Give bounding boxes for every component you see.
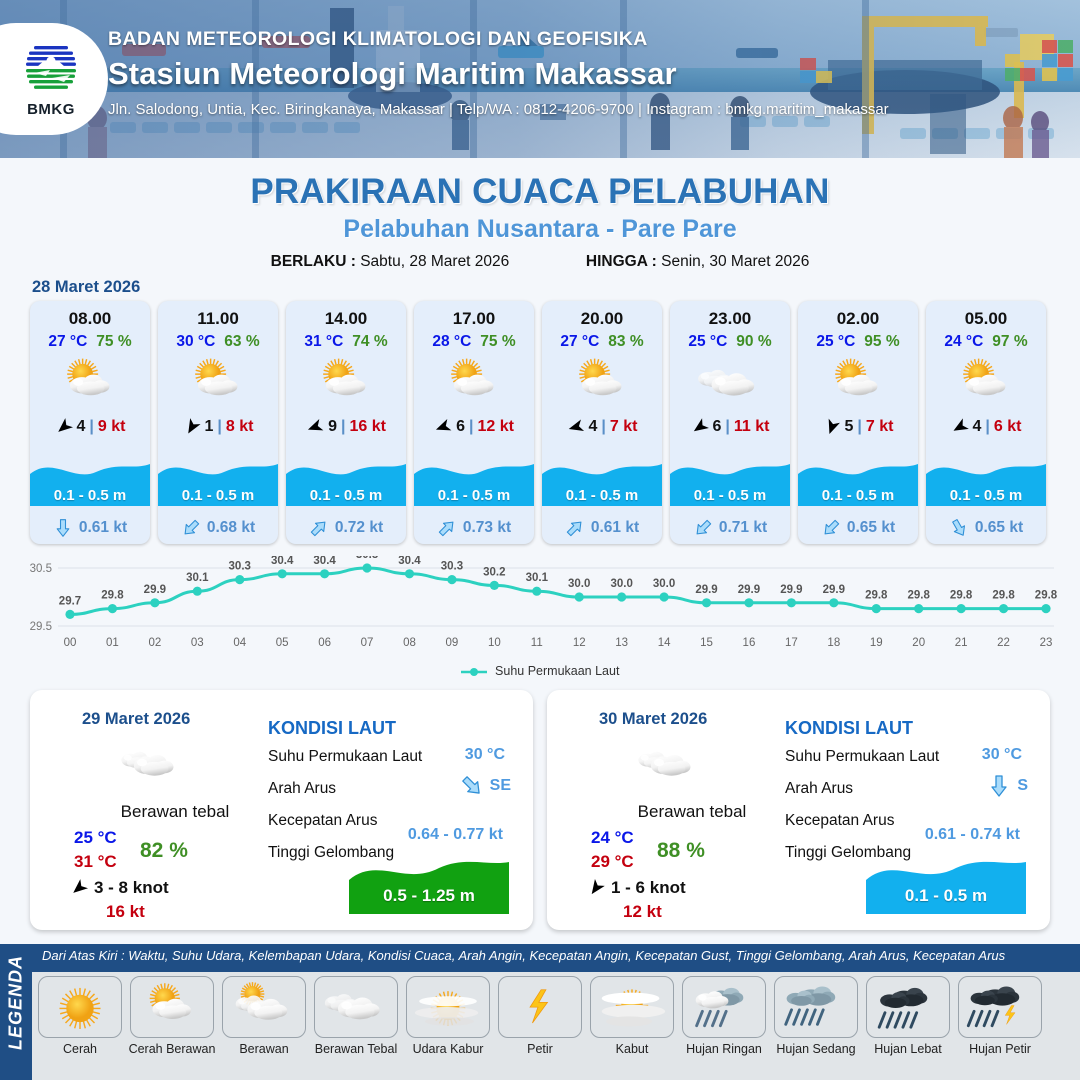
card-temperature: 27 °C xyxy=(48,333,87,351)
card-wave-height: 0.1 - 0.5 m xyxy=(926,487,1046,504)
station-contact: Jln. Salodong, Untia, Kec. Biringkanaya,… xyxy=(108,101,889,118)
card-divider: | xyxy=(857,418,861,436)
legend-strip: LEGENDA Dari Atas Kiri : Waktu, Suhu Uda… xyxy=(0,944,1080,1080)
current-direction-arrow-icon xyxy=(987,774,1011,798)
current-direction-arrow-icon xyxy=(561,514,589,542)
svg-text:29.9: 29.9 xyxy=(144,584,166,596)
card-weather-icon xyxy=(926,355,1046,411)
svg-text:30.0: 30.0 xyxy=(610,578,632,590)
card-temp-hum: 31 °C 74 % xyxy=(286,333,406,351)
card-gust: 8 kt xyxy=(226,418,254,436)
sea-conditions-title: KONDISI LAUT xyxy=(785,718,913,739)
card-current-speed: 0.65 kt xyxy=(975,519,1023,537)
legend-item-icon xyxy=(866,976,950,1038)
card-humidity: 75 % xyxy=(96,333,131,351)
hourly-card: 23.00 25 °C 90 % 6 | 11 kt xyxy=(670,301,790,544)
current-direction-arrow-icon xyxy=(305,514,333,542)
daily-temp-min: 24 °C xyxy=(591,828,634,848)
current-direction-arrow-icon xyxy=(945,514,972,541)
card-divider: | xyxy=(341,418,345,436)
svg-text:30.4: 30.4 xyxy=(398,556,421,567)
svg-text:08: 08 xyxy=(403,637,416,649)
weather-icon-cerah xyxy=(44,978,116,1036)
card-wave-height: 0.1 - 0.5 m xyxy=(158,487,278,504)
legend-icon-list: Cerah Cerah Berawan xyxy=(36,976,1080,1056)
daily-panel: 30 Maret 2026 Berawan tebal 24 °C 29 °C … xyxy=(547,690,1050,930)
svg-text:30.2: 30.2 xyxy=(483,566,505,578)
svg-text:06: 06 xyxy=(318,637,331,649)
card-weather-icon xyxy=(158,355,278,411)
card-wave-height: 0.1 - 0.5 m xyxy=(414,487,534,504)
page-title: PRAKIRAAN CUACA PELABUHAN xyxy=(0,172,1080,212)
chart-legend-label: Suhu Permukaan Laut xyxy=(495,664,619,678)
svg-text:30.0: 30.0 xyxy=(568,578,590,590)
svg-text:18: 18 xyxy=(827,637,840,649)
svg-text:14: 14 xyxy=(658,637,671,649)
svg-text:29.9: 29.9 xyxy=(695,584,717,596)
svg-text:20: 20 xyxy=(912,637,925,649)
svg-text:30.4: 30.4 xyxy=(271,556,294,567)
card-wave-height: 0.1 - 0.5 m xyxy=(798,487,918,504)
svg-text:13: 13 xyxy=(615,637,628,649)
svg-text:29.7: 29.7 xyxy=(59,595,81,607)
current-direction-arrow-icon xyxy=(53,518,73,538)
wind-direction-arrow-icon xyxy=(564,416,586,438)
legend-item-icon xyxy=(406,976,490,1038)
hourly-card: 05.00 24 °C 97 % 4 | 6 kt 0.1 xyxy=(926,301,1046,544)
agency-name: BADAN METEOROLOGI KLIMATOLOGI DAN GEOFIS… xyxy=(108,28,889,51)
current-direction-arrow-icon xyxy=(177,514,205,542)
legend-item-label: Cerah Berawan xyxy=(128,1042,216,1056)
legend-item: Berawan xyxy=(220,976,308,1056)
legend-note: Dari Atas Kiri : Waktu, Suhu Udara, Kele… xyxy=(42,948,1078,963)
legend-item: Kabut xyxy=(588,976,676,1056)
card-temperature: 25 °C xyxy=(816,333,855,351)
daily-humidity: 82 % xyxy=(140,839,188,863)
legend-item-label: Hujan Sedang xyxy=(772,1042,860,1056)
daily-date: 30 Maret 2026 xyxy=(599,710,707,729)
svg-text:29.9: 29.9 xyxy=(823,584,845,596)
svg-text:30.1: 30.1 xyxy=(186,572,209,584)
daily-date: 29 Maret 2026 xyxy=(82,710,190,729)
weather-icon-berawan-tebal xyxy=(625,738,711,790)
card-wind-row: 4 | 6 kt xyxy=(926,418,1046,436)
card-wind-row: 9 | 16 kt xyxy=(286,418,406,436)
station-name: Stasiun Meteorologi Maritim Makassar xyxy=(108,56,889,92)
card-temp-hum: 27 °C 75 % xyxy=(30,333,150,351)
card-weather-icon xyxy=(286,355,406,411)
svg-text:11: 11 xyxy=(531,637,543,649)
weather-icon-berawan xyxy=(228,978,300,1036)
weather-icon-cerah-berawan xyxy=(136,978,208,1036)
card-wind-row: 5 | 7 kt xyxy=(798,418,918,436)
card-wind-row: 4 | 7 kt xyxy=(542,418,662,436)
hourly-date: 28 Maret 2026 xyxy=(32,278,140,297)
sea-label-sst: Suhu Permukaan Laut xyxy=(268,748,422,766)
legend-item-label: Cerah xyxy=(36,1042,124,1056)
chart-legend-swatch-icon xyxy=(461,667,487,677)
card-current-row: 0.61 kt xyxy=(542,518,662,538)
card-wind-speed: 5 xyxy=(845,418,854,436)
card-wind-speed: 4 xyxy=(589,418,598,436)
sea-value-wave: 0.1 - 0.5 m xyxy=(866,886,1026,906)
card-temperature: 25 °C xyxy=(688,333,727,351)
legend-item: Hujan Ringan xyxy=(680,976,768,1056)
svg-text:05: 05 xyxy=(276,637,289,649)
sea-value-current-speed: 0.64 - 0.77 kt xyxy=(408,826,503,844)
sst-chart-svg: 30.529.529.70029.80129.90230.10330.30430… xyxy=(18,556,1062,664)
card-humidity: 95 % xyxy=(864,333,899,351)
card-gust: 7 kt xyxy=(610,418,638,436)
legend-item-icon xyxy=(682,976,766,1038)
svg-text:29.9: 29.9 xyxy=(738,584,760,596)
current-direction-arrow-icon xyxy=(455,769,489,803)
card-wave-height: 0.1 - 0.5 m xyxy=(30,487,150,504)
card-current-speed: 0.68 kt xyxy=(207,519,255,537)
svg-text:09: 09 xyxy=(446,637,459,649)
svg-text:30.4: 30.4 xyxy=(313,556,336,567)
legend-item-icon xyxy=(774,976,858,1038)
sea-label-current-speed: Kecepatan Arus xyxy=(268,812,377,830)
sea-value-current-dir: S xyxy=(987,774,1028,798)
sea-value-current-speed: 0.61 - 0.74 kt xyxy=(925,826,1020,844)
svg-text:12: 12 xyxy=(573,637,586,649)
card-gust: 11 kt xyxy=(734,418,770,436)
sea-label-sst: Suhu Permukaan Laut xyxy=(785,748,939,766)
daily-condition: Berawan tebal xyxy=(587,802,797,822)
daily-condition: Berawan tebal xyxy=(70,802,280,822)
wind-direction-arrow-icon xyxy=(583,875,608,900)
card-time: 08.00 xyxy=(30,301,150,329)
legend-item: Petir xyxy=(496,976,584,1056)
wind-direction-arrow-icon xyxy=(51,414,76,439)
valid-from-value: Sabtu, 28 Maret 2026 xyxy=(360,253,509,270)
legend-item: Cerah xyxy=(36,976,124,1056)
legend-item-icon xyxy=(958,976,1042,1038)
card-current-speed: 0.71 kt xyxy=(719,519,767,537)
card-current-speed: 0.61 kt xyxy=(79,519,127,537)
weather-icon-hujan-ringan xyxy=(688,978,760,1036)
card-current-row: 0.61 kt xyxy=(30,518,150,538)
legend-item-icon xyxy=(498,976,582,1038)
legend-item-label: Petir xyxy=(496,1042,584,1056)
card-wind-row: 1 | 8 kt xyxy=(158,418,278,436)
hourly-forecast-cards: 08.00 27 °C 75 % 4 | 9 kt 0.1 xyxy=(30,301,1050,544)
legend-sidebar: LEGENDA xyxy=(0,944,32,1080)
svg-text:30.3: 30.3 xyxy=(441,561,463,573)
card-temp-hum: 30 °C 63 % xyxy=(158,333,278,351)
card-current-row: 0.71 kt xyxy=(670,518,790,538)
wind-direction-arrow-icon xyxy=(432,415,455,438)
card-time: 05.00 xyxy=(926,301,1046,329)
daily-gust: 16 kt xyxy=(106,902,145,922)
valid-until-label: HINGGA : xyxy=(586,253,657,270)
title-block: PRAKIRAAN CUACA PELABUHAN Pelabuhan Nusa… xyxy=(0,158,1080,271)
daily-wind: 3 - 8 knot xyxy=(70,878,169,898)
card-humidity: 90 % xyxy=(736,333,771,351)
legend-item-label: Berawan xyxy=(220,1042,308,1056)
card-divider: | xyxy=(469,418,473,436)
wind-direction-arrow-icon xyxy=(820,415,843,438)
daily-temp-min: 25 °C xyxy=(74,828,117,848)
hourly-card: 20.00 27 °C 83 % 4 | 7 kt 0.1 xyxy=(542,301,662,544)
weather-icon-cerah-berawan xyxy=(565,355,639,411)
bmkg-logo: BMKG xyxy=(0,23,108,135)
sea-value-current-dir: SE xyxy=(460,774,511,798)
daily-humidity: 88 % xyxy=(657,839,705,863)
daily-wind: 1 - 6 knot xyxy=(587,878,686,898)
daily-forecast-panels: 29 Maret 2026 Berawan tebal 25 °C 31 °C … xyxy=(30,690,1050,930)
svg-text:30.1: 30.1 xyxy=(526,572,549,584)
hourly-card: 14.00 31 °C 74 % 9 | 16 kt 0. xyxy=(286,301,406,544)
sea-label-current-dir: Arah Arus xyxy=(268,780,336,798)
legend-item: Udara Kabur xyxy=(404,976,492,1056)
legend-item: Berawan Tebal xyxy=(312,976,400,1056)
card-humidity: 63 % xyxy=(224,333,259,351)
valid-from-label: BERLAKU : xyxy=(271,253,356,270)
card-current-row: 0.73 kt xyxy=(414,518,534,538)
card-divider: | xyxy=(725,418,729,436)
card-humidity: 75 % xyxy=(480,333,515,351)
card-gust: 6 kt xyxy=(994,418,1022,436)
svg-text:29.8: 29.8 xyxy=(1035,590,1058,602)
card-temperature: 30 °C xyxy=(176,333,215,351)
card-temp-hum: 25 °C 95 % xyxy=(798,333,918,351)
card-divider: | xyxy=(217,418,221,436)
svg-text:30.0: 30.0 xyxy=(653,578,675,590)
hourly-card: 17.00 28 °C 75 % 6 | 12 kt 0. xyxy=(414,301,534,544)
legend-item-label: Udara Kabur xyxy=(404,1042,492,1056)
daily-wind-range: 3 - 8 knot xyxy=(94,878,169,898)
card-temp-hum: 27 °C 83 % xyxy=(542,333,662,351)
bmkg-logo-text: BMKG xyxy=(27,101,75,118)
card-temp-hum: 28 °C 75 % xyxy=(414,333,534,351)
card-divider: | xyxy=(985,418,989,436)
card-current-speed: 0.61 kt xyxy=(591,519,639,537)
weather-icon-hujan-sedang xyxy=(780,978,852,1036)
card-gust: 9 kt xyxy=(98,418,126,436)
card-wind-row: 6 | 11 kt xyxy=(670,418,790,436)
svg-text:03: 03 xyxy=(191,637,204,649)
weather-icon-hujan-lebat xyxy=(872,978,944,1036)
page-header: BMKG BADAN METEOROLOGI KLIMATOLOGI DAN G… xyxy=(0,0,1080,158)
svg-text:16: 16 xyxy=(743,637,756,649)
svg-text:07: 07 xyxy=(361,637,374,649)
svg-text:29.9: 29.9 xyxy=(780,584,802,596)
weather-icon-cerah-berawan xyxy=(821,355,895,411)
header-text-block: BADAN METEOROLOGI KLIMATOLOGI DAN GEOFIS… xyxy=(108,28,889,118)
card-divider: | xyxy=(601,418,605,436)
wind-direction-arrow-icon xyxy=(179,415,204,440)
current-direction-arrow-icon xyxy=(689,514,717,542)
svg-text:30.5: 30.5 xyxy=(30,563,52,575)
legend-item-label: Hujan Lebat xyxy=(864,1042,952,1056)
svg-text:29.8: 29.8 xyxy=(101,590,124,602)
card-current-row: 0.65 kt xyxy=(926,518,1046,538)
legend-item-label: Berawan Tebal xyxy=(312,1042,400,1056)
svg-text:19: 19 xyxy=(870,637,883,649)
daily-temp-max: 29 °C xyxy=(591,852,634,872)
legend-item: Hujan Lebat xyxy=(864,976,952,1056)
weather-icon-petir xyxy=(504,978,576,1036)
sea-value-sst: 30 °C xyxy=(465,746,505,764)
card-wind-speed: 1 xyxy=(205,418,214,436)
weather-icon-cerah-berawan xyxy=(181,355,255,411)
svg-text:22: 22 xyxy=(997,637,1010,649)
card-wave-height: 0.1 - 0.5 m xyxy=(670,487,790,504)
card-divider: | xyxy=(89,418,93,436)
svg-text:04: 04 xyxy=(233,637,246,649)
svg-text:23: 23 xyxy=(1040,637,1053,649)
daily-weather-icon xyxy=(625,738,711,790)
wind-direction-arrow-icon xyxy=(687,414,712,439)
legend-item: Hujan Petir xyxy=(956,976,1044,1056)
card-gust: 16 kt xyxy=(349,418,385,436)
legend-item-icon xyxy=(222,976,306,1038)
card-gust: 7 kt xyxy=(866,418,894,436)
card-wind-row: 6 | 12 kt xyxy=(414,418,534,436)
weather-icon-cerah-berawan xyxy=(309,355,383,411)
weather-icon-cerah-berawan xyxy=(53,355,127,411)
svg-text:30.3: 30.3 xyxy=(229,561,251,573)
daily-weather-icon xyxy=(108,738,194,790)
weather-icon-hujan-petir xyxy=(964,978,1036,1036)
sea-value-wave: 0.5 - 1.25 m xyxy=(349,886,509,906)
card-time: 11.00 xyxy=(158,301,278,329)
card-wind-speed: 4 xyxy=(77,418,86,436)
legend-item-label: Hujan Petir xyxy=(956,1042,1044,1056)
card-current-speed: 0.72 kt xyxy=(335,519,383,537)
svg-text:29.8: 29.8 xyxy=(908,590,931,602)
legend-item-label: Kabut xyxy=(588,1042,676,1056)
card-weather-icon xyxy=(670,355,790,411)
card-temp-hum: 24 °C 97 % xyxy=(926,333,1046,351)
card-humidity: 74 % xyxy=(352,333,387,351)
legend-item-icon xyxy=(38,976,122,1038)
weather-icon-berawan-tebal xyxy=(320,978,392,1036)
svg-text:29.5: 29.5 xyxy=(30,621,52,633)
wind-direction-arrow-icon xyxy=(66,875,91,900)
card-temperature: 28 °C xyxy=(432,333,471,351)
validity-row: BERLAKU : Sabtu, 28 Maret 2026 HINGGA : … xyxy=(0,253,1080,271)
legend-item-label: Hujan Ringan xyxy=(680,1042,768,1056)
weather-icon-cerah-berawan xyxy=(949,355,1023,411)
daily-temp-max: 31 °C xyxy=(74,852,117,872)
svg-text:01: 01 xyxy=(106,637,119,649)
wind-direction-arrow-icon xyxy=(304,415,327,438)
weather-icon-berawan-tebal xyxy=(693,355,767,411)
card-temperature: 27 °C xyxy=(560,333,599,351)
daily-wind-range: 1 - 6 knot xyxy=(611,878,686,898)
card-current-row: 0.72 kt xyxy=(286,518,406,538)
card-time: 14.00 xyxy=(286,301,406,329)
card-wind-row: 4 | 9 kt xyxy=(30,418,150,436)
svg-text:15: 15 xyxy=(700,637,713,649)
sst-chart: 30.529.529.70029.80129.90230.10330.30430… xyxy=(18,556,1062,684)
page-subtitle: Pelabuhan Nusantara - Pare Pare xyxy=(0,215,1080,244)
card-temp-hum: 25 °C 90 % xyxy=(670,333,790,351)
card-time: 17.00 xyxy=(414,301,534,329)
card-wind-speed: 9 xyxy=(328,418,337,436)
card-time: 02.00 xyxy=(798,301,918,329)
svg-text:21: 21 xyxy=(955,637,968,649)
current-direction-arrow-icon xyxy=(433,514,461,542)
card-current-speed: 0.73 kt xyxy=(463,519,511,537)
weather-icon-udara-kabur xyxy=(412,978,484,1036)
sea-conditions-title: KONDISI LAUT xyxy=(268,718,396,739)
card-gust: 12 kt xyxy=(477,418,513,436)
legend-item: Hujan Sedang xyxy=(772,976,860,1056)
legend-item-icon xyxy=(130,976,214,1038)
card-wind-speed: 4 xyxy=(973,418,982,436)
card-temperature: 24 °C xyxy=(944,333,983,351)
card-weather-icon xyxy=(30,355,150,411)
card-time: 23.00 xyxy=(670,301,790,329)
svg-text:17: 17 xyxy=(785,637,798,649)
card-weather-icon xyxy=(542,355,662,411)
sea-value-sst: 30 °C xyxy=(982,746,1022,764)
card-time: 20.00 xyxy=(542,301,662,329)
card-wave-height: 0.1 - 0.5 m xyxy=(286,487,406,504)
svg-text:30.5: 30.5 xyxy=(356,556,379,561)
card-current-row: 0.65 kt xyxy=(798,518,918,538)
card-wind-speed: 6 xyxy=(456,418,465,436)
daily-gust: 12 kt xyxy=(623,902,662,922)
card-wind-speed: 6 xyxy=(713,418,722,436)
legend-item: Cerah Berawan xyxy=(128,976,216,1056)
svg-text:29.8: 29.8 xyxy=(992,590,1015,602)
legend-vertical-label: LEGENDA xyxy=(6,951,27,1055)
hourly-card: 02.00 25 °C 95 % 5 | 7 kt 0.1 xyxy=(798,301,918,544)
card-current-speed: 0.65 kt xyxy=(847,519,895,537)
daily-panel: 29 Maret 2026 Berawan tebal 25 °C 31 °C … xyxy=(30,690,533,930)
weather-icon-kabut xyxy=(596,978,668,1036)
current-direction-arrow-icon xyxy=(817,514,845,542)
card-humidity: 83 % xyxy=(608,333,643,351)
hourly-card: 11.00 30 °C 63 % 1 | 8 kt 0.1 xyxy=(158,301,278,544)
weather-icon-cerah-berawan xyxy=(437,355,511,411)
bmkg-logo-icon xyxy=(20,40,82,100)
card-weather-icon xyxy=(414,355,534,411)
svg-text:29.8: 29.8 xyxy=(865,590,888,602)
valid-until-value: Senin, 30 Maret 2026 xyxy=(661,253,809,270)
svg-text:02: 02 xyxy=(148,637,161,649)
wind-direction-arrow-icon xyxy=(947,415,972,440)
legend-item-icon xyxy=(590,976,674,1038)
svg-text:00: 00 xyxy=(64,637,77,649)
chart-legend: Suhu Permukaan Laut xyxy=(18,664,1062,678)
card-wave-height: 0.1 - 0.5 m xyxy=(542,487,662,504)
weather-icon-berawan-tebal xyxy=(108,738,194,790)
card-humidity: 97 % xyxy=(992,333,1027,351)
card-temperature: 31 °C xyxy=(304,333,343,351)
svg-text:29.8: 29.8 xyxy=(950,590,973,602)
hourly-card: 08.00 27 °C 75 % 4 | 9 kt 0.1 xyxy=(30,301,150,544)
sea-label-current-dir: Arah Arus xyxy=(785,780,853,798)
svg-text:10: 10 xyxy=(488,637,501,649)
card-weather-icon xyxy=(798,355,918,411)
legend-item-icon xyxy=(314,976,398,1038)
sea-label-current-speed: Kecepatan Arus xyxy=(785,812,894,830)
card-current-row: 0.68 kt xyxy=(158,518,278,538)
